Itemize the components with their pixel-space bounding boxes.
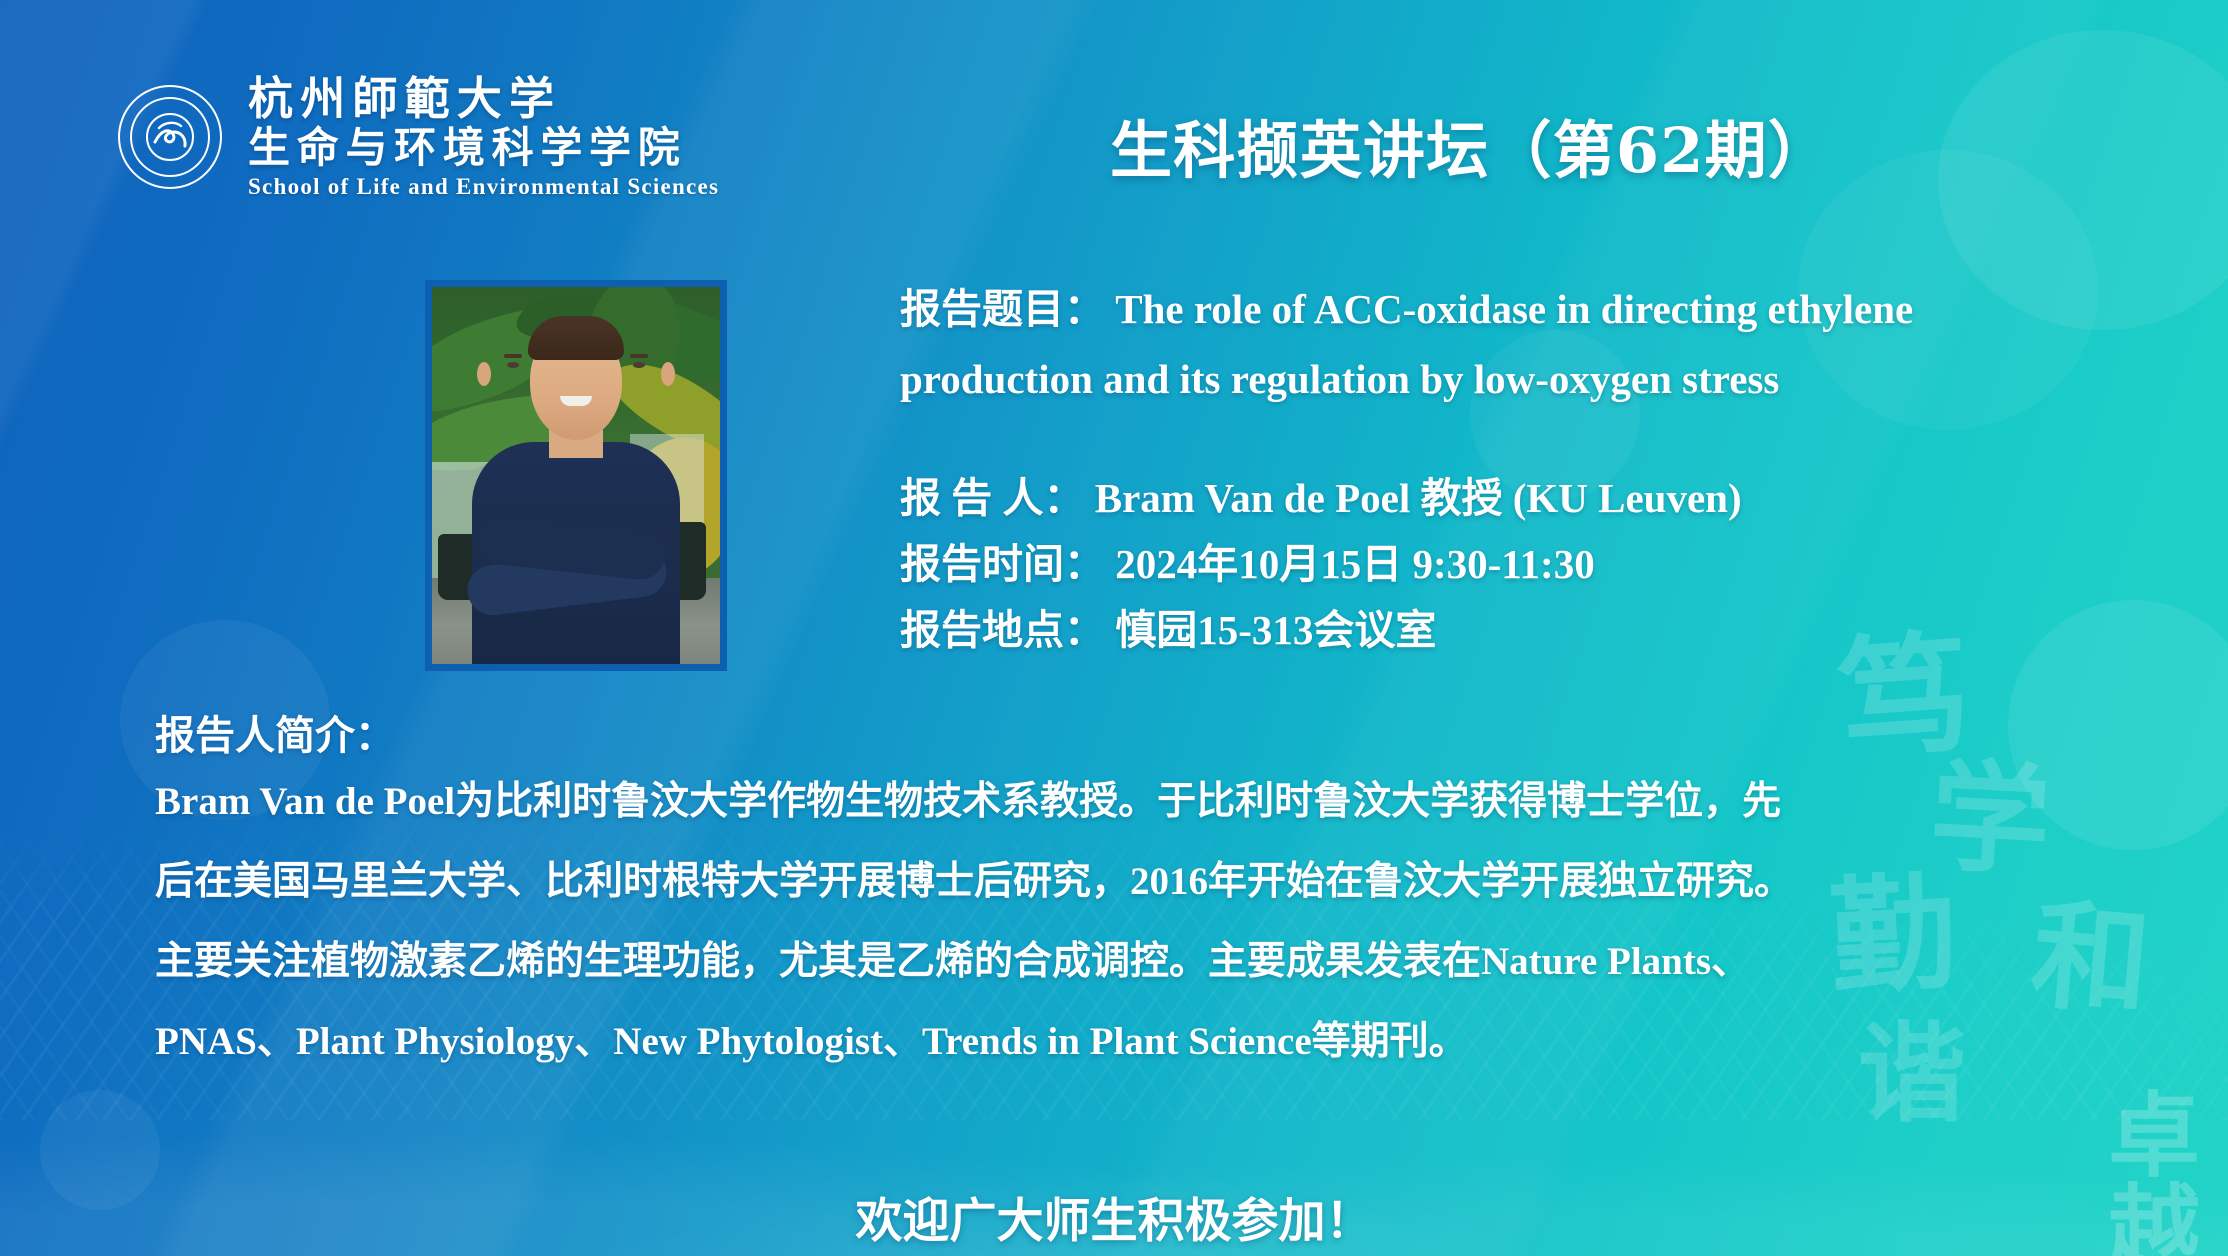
eyebrow-shape bbox=[630, 354, 648, 358]
biography-heading: 报告人简介： bbox=[155, 712, 2095, 760]
footer-invitation: 欢迎广大师生积极参加！ bbox=[0, 1182, 2228, 1251]
time-label: 报告时间： bbox=[900, 541, 1105, 587]
speaker-photo bbox=[432, 287, 720, 664]
eye-shape bbox=[633, 362, 645, 368]
speaker-row: 报 告 人： Bram Van de Poel 教授 (KU Leuven) bbox=[900, 473, 2130, 525]
eye-shape bbox=[507, 362, 519, 368]
biography-line: Bram Van de Poel为比利时鲁汶大学作物生物技术系教授。于比利时鲁汶… bbox=[155, 782, 2095, 821]
logo-school-name: 生命与环境科学学院 bbox=[248, 124, 719, 171]
talk-details: 报告题目： The role of ACC-oxidase in directi… bbox=[900, 284, 2130, 670]
poster-canvas: 笃 学 勤 和 谐 卓越 杭州師範大学 生命与环境科学学院 School of … bbox=[0, 0, 2228, 1256]
ear-shape bbox=[661, 362, 675, 386]
hair-shape bbox=[528, 316, 624, 360]
talk-title-line2: production and its regulation by low-oxy… bbox=[900, 354, 2130, 406]
biography-line: 后在美国马里兰大学、比利时根特大学开展博士后研究，2016年开始在鲁汶大学开展独… bbox=[155, 862, 2095, 901]
logo-wordmark: 杭州師範大学 生命与环境科学学院 School of Life and Envi… bbox=[248, 75, 719, 200]
biography-line: PNAS、Plant Physiology、New Phytologist、Tr… bbox=[155, 1022, 2095, 1061]
logo-university-name: 杭州師範大学 bbox=[248, 75, 719, 124]
school-seal-icon bbox=[118, 85, 222, 189]
details-spacer bbox=[900, 419, 2130, 473]
speaker-photo-frame bbox=[425, 280, 727, 671]
talk-title-label: 报告题目： bbox=[900, 286, 1105, 332]
eyebrow-shape bbox=[504, 354, 522, 358]
speaker-biography: 报告人简介： Bram Van de Poel为比利时鲁汶大学作物生物技术系教授… bbox=[155, 712, 2095, 1102]
venue-label: 报告地点： bbox=[900, 607, 1105, 653]
seal-emblem-icon bbox=[138, 105, 202, 169]
time-value: 2024年10月15日 9:30-11:30 bbox=[1115, 541, 1594, 587]
page-title: 生科撷英讲坛（第62期） bbox=[1110, 100, 1831, 190]
mouth-shape bbox=[560, 396, 592, 406]
ear-shape bbox=[477, 362, 491, 386]
venue-row: 报告地点： 慎园15-313会议室 bbox=[900, 605, 2130, 657]
time-row: 报告时间： 2024年10月15日 9:30-11:30 bbox=[900, 539, 2130, 591]
speaker-value: Bram Van de Poel 教授 (KU Leuven) bbox=[1095, 475, 1742, 521]
biography-line: 主要关注植物激素乙烯的生理功能，尤其是乙烯的合成调控。主要成果发表在Nature… bbox=[155, 942, 2095, 981]
speaker-label: 报 告 人： bbox=[900, 475, 1085, 521]
talk-title-line1: The role of ACC-oxidase in directing eth… bbox=[1115, 286, 1913, 332]
person-figure bbox=[461, 334, 691, 664]
talk-title-row: 报告题目： The role of ACC-oxidase in directi… bbox=[900, 284, 2130, 405]
logo-school-name-en: School of Life and Environmental Science… bbox=[248, 174, 719, 200]
institution-logo: 杭州師範大学 生命与环境科学学院 School of Life and Envi… bbox=[118, 75, 719, 200]
venue-value: 慎园15-313会议室 bbox=[1115, 607, 1436, 653]
